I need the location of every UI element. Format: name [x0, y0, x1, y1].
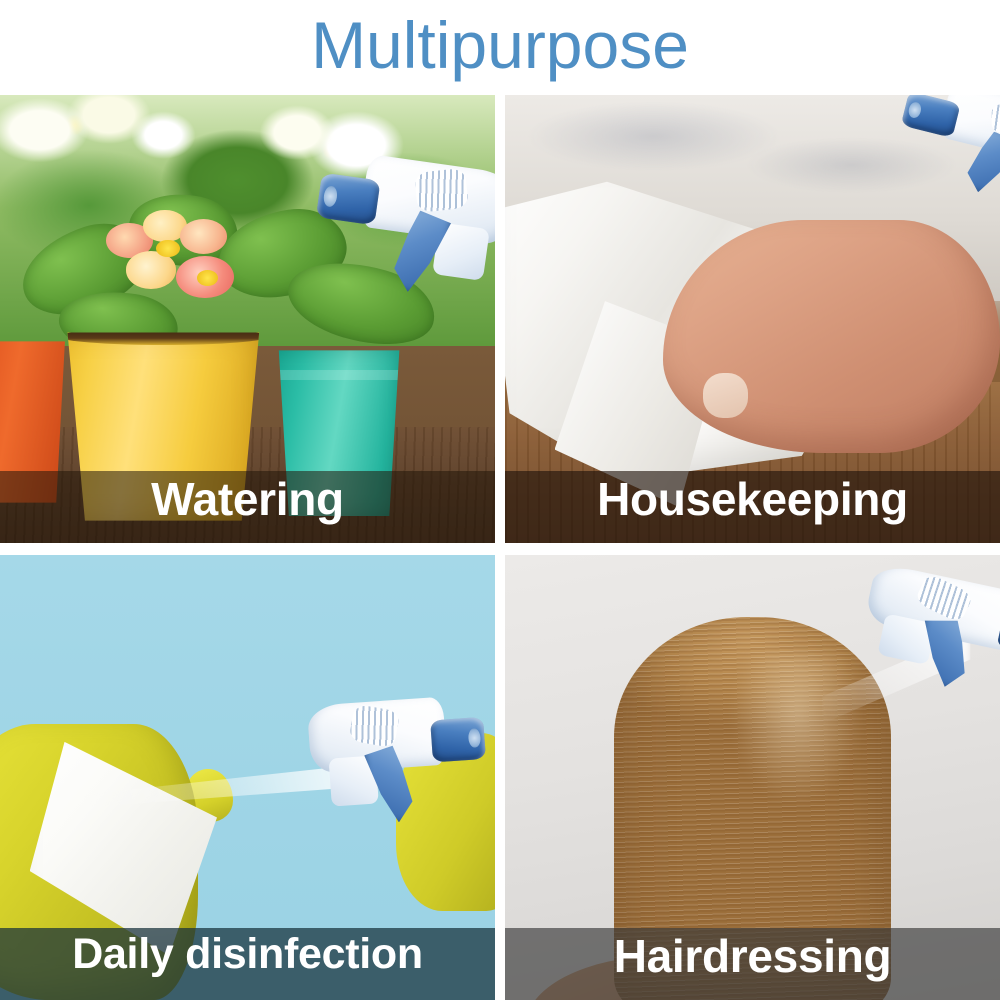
page-title: Multipurpose	[311, 12, 689, 84]
panel-housekeeping[interactable]: Housekeeping	[505, 95, 1000, 543]
panel-caption: Daily disinfection	[72, 932, 423, 977]
panel-caption: Watering	[151, 475, 344, 523]
photo-disinfection: Daily disinfection	[0, 555, 495, 1000]
sprayer-nozzle	[430, 716, 486, 762]
photo-watering: Watering	[0, 95, 495, 543]
flower-petal	[180, 219, 227, 254]
hand	[663, 220, 1000, 453]
poster-header: Multipurpose	[0, 0, 1000, 95]
photo-hairdressing: Hairdressing	[505, 555, 1000, 1000]
caption-band-watering: Watering	[0, 471, 495, 543]
flower-center	[156, 240, 180, 257]
photo-housekeeping: Housekeeping	[505, 95, 1000, 543]
flower-petal	[126, 251, 176, 288]
flower-cluster	[99, 203, 267, 319]
panel-watering[interactable]: Watering	[0, 95, 505, 543]
caption-band-housekeeping: Housekeeping	[505, 471, 1000, 543]
caption-band-hairdressing: Hairdressing	[505, 928, 1000, 1000]
sprayer-ridges	[414, 168, 469, 213]
sprayer-nozzle	[901, 95, 961, 138]
multipurpose-poster: Multipurpose	[0, 0, 1000, 1000]
sprayer-nozzle	[316, 172, 381, 226]
caption-band-disinfection: Daily disinfection	[0, 928, 495, 1000]
thumbnail	[703, 373, 748, 418]
panel-caption: Hairdressing	[614, 932, 892, 980]
panel-disinfection[interactable]: Daily disinfection	[0, 543, 505, 1000]
spray-bottle-icon	[307, 127, 495, 305]
spray-bottle-icon	[302, 674, 490, 828]
panel-caption: Housekeeping	[597, 475, 908, 523]
use-case-grid: Watering	[0, 95, 1000, 1000]
hair-sheen	[733, 653, 862, 804]
panel-hairdressing[interactable]: Hairdressing	[505, 543, 1000, 1000]
